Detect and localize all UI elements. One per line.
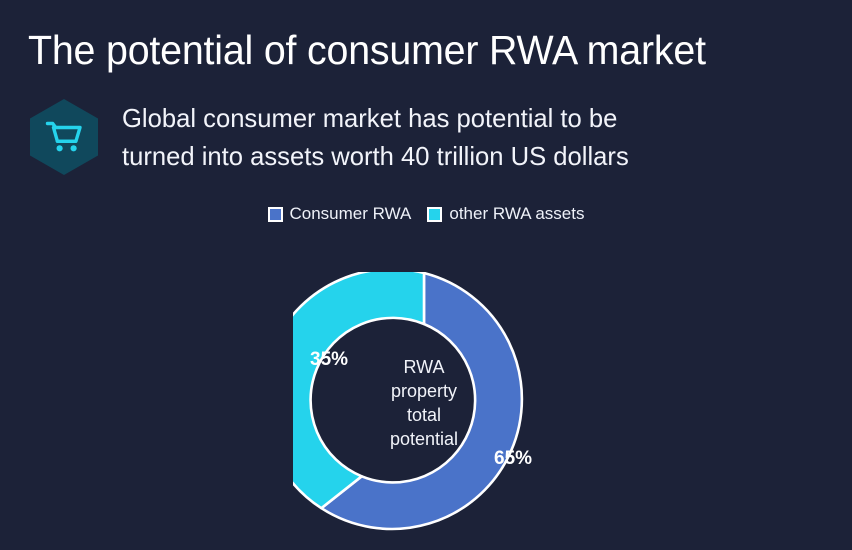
chart-legend: Consumer RWA other RWA assets: [0, 205, 852, 223]
legend-swatch-other-rwa-assets: [427, 207, 442, 222]
donut-slice-other-rwa-assets: [293, 272, 424, 508]
legend-label-consumer-rwa: Consumer RWA: [290, 205, 412, 223]
subtitle-line-2: turned into assets worth 40 trillion US …: [122, 137, 629, 175]
donut-chart: RWA property total potential 65% 35%: [293, 272, 555, 534]
subtitle: Global consumer market has potential to …: [122, 99, 629, 175]
legend-item-consumer-rwa[interactable]: Consumer RWA: [268, 205, 412, 223]
legend-swatch-consumer-rwa: [268, 207, 283, 222]
shopping-cart-icon: [27, 98, 101, 176]
chart-area: RWA property total potential 65% 35%: [0, 262, 852, 550]
legend-label-other-rwa-assets: other RWA assets: [449, 205, 584, 223]
subtitle-row: Global consumer market has potential to …: [27, 98, 636, 176]
page-title: The potential of consumer RWA market: [28, 22, 706, 78]
subtitle-line-1: Global consumer market has potential to …: [122, 99, 629, 137]
legend-item-other-rwa-assets[interactable]: other RWA assets: [427, 205, 584, 223]
